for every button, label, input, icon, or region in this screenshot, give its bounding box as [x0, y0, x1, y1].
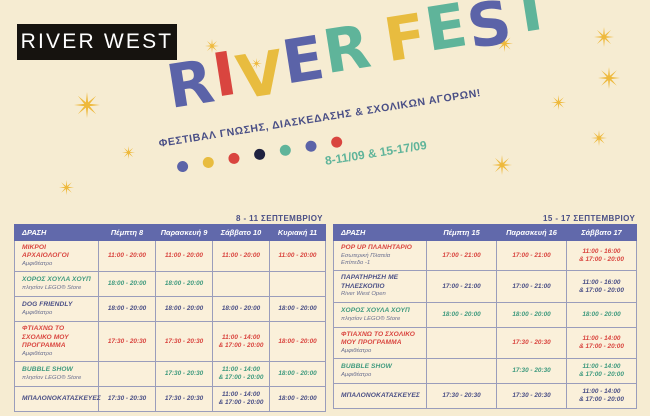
activity-title: POP UP ΠΛΑΝΗΤΑΡΙΟ [341, 244, 422, 252]
time-cell: 11:00 - 20:00 [156, 241, 213, 272]
column-header-activity: ΔΡΑΣΗ [15, 225, 99, 241]
time-cell: 11:00 - 14:00 & 17:00 - 20:00 [213, 322, 270, 362]
column-header-activity: ΔΡΑΣΗ [334, 225, 427, 241]
time-cell: 11:00 - 20:00 [213, 241, 270, 272]
activity-cell: BUBBLE SHOWπλησίον LEGO® Store [15, 361, 99, 386]
wordmark-letter: R [163, 54, 217, 117]
river-west-logo-text: RIVER WEST [21, 30, 174, 54]
wordmark-letter: S [464, 0, 515, 57]
wordmark-letter [375, 73, 389, 84]
wordmark-letter: F [381, 8, 429, 71]
time-cell [427, 327, 497, 358]
column-header-day: Παρασκευή 16 [497, 225, 567, 241]
time-cell: 11:00 - 14:00 & 17:00 - 20:00 [213, 386, 270, 411]
wordmark-letter: V [233, 45, 287, 108]
time-cell: 18:00 - 20:00 [270, 361, 326, 386]
table-row: ΧΟΡΟΣ ΧΟΥΛΑ ΧΟΥΠπλησίον LEGO® Store18:00… [334, 302, 637, 327]
activity-title: ΧΟΡΟΣ ΧΟΥΛΑ ΧΟΥΠ [341, 307, 422, 315]
time-cell: 17:30 - 20:30 [156, 361, 213, 386]
activity-cell: ΜΠΑΛΟΝΟΚΑΤΑΣΚΕΥΕΣ [334, 384, 427, 409]
wordmark-dot [253, 148, 266, 161]
activity-cell: POP UP ΠΛΑΝΗΤΑΡΙΟΕσωτερική Πλατεία Επίπε… [334, 241, 427, 271]
column-header-day: Πέμπτη 8 [99, 225, 156, 241]
star-icon [74, 92, 100, 122]
activity-cell: ΦΤΙΑΧΝΩ ΤΟ ΣΧΟΛΙΚΟ ΜΟΥ ΠΡΟΓΡΑΜΜΑΑμφιθέατ… [334, 327, 427, 358]
time-cell: 17:00 - 21:00 [427, 241, 497, 271]
activity-title: ΦΤΙΑΧΝΩ ΤΟ ΣΧΟΛΙΚΟ ΜΟΥ ΠΡΟΓΡΑΜΜΑ [22, 325, 94, 350]
time-cell: 18:00 - 20:00 [270, 386, 326, 411]
wordmark-dot [305, 140, 318, 153]
activity-venue: Αμφιθέατρο [22, 351, 94, 358]
time-cell: 18:00 - 20:00 [497, 302, 567, 327]
activity-venue: Εσωτερική Πλατεία Επίπεδο -1 [341, 253, 422, 268]
table-row: ΦΤΙΑΧΝΩ ΤΟ ΣΧΟΛΙΚΟ ΜΟΥ ΠΡΟΓΡΑΜΜΑΑμφιθέατ… [15, 322, 326, 362]
column-header-day: Σάββατο 17 [567, 225, 637, 241]
time-cell: 18:00 - 20:00 [99, 272, 156, 297]
time-cell: 11:00 - 14:00 & 17:00 - 20:00 [567, 327, 637, 358]
time-cell: 17:30 - 20:30 [156, 386, 213, 411]
activity-title: BUBBLE SHOW [341, 363, 422, 371]
wordmark-letter: E [421, 0, 469, 60]
table-header-row: ΔΡΑΣΗΠέμπτη 8Παρασκευή 9Σάββατο 10Κυριακ… [15, 225, 326, 241]
time-cell: 18:00 - 20:00 [567, 302, 637, 327]
star-icon [551, 95, 566, 114]
schedule-table-sep-15-17: ΔΡΑΣΗΠέμπτη 15Παρασκευή 16Σάββατο 17POP … [333, 224, 637, 409]
star-icon [59, 180, 74, 199]
time-cell: 11:00 - 16:00 & 17:00 - 20:00 [567, 241, 637, 271]
wordmark-letter: E [279, 30, 327, 93]
river-west-logo: RIVER WEST [17, 24, 177, 60]
activity-cell: DOG FRIENDLYΑμφιθέατρο [15, 297, 99, 322]
section-label-sep-15-17: 15 - 17 ΣΕΠΤΕΜΒΡΙΟΥ [543, 214, 635, 223]
activity-title: DOG FRIENDLY [22, 301, 94, 309]
river-fest-wordmark: RIVER FEST ΦΕΣΤΙΒΑΛ ΓΝΩΣΗΣ, ΔΙΑΣΚΕΔΑΣΗΣ … [172, 60, 502, 180]
column-header-day: Πέμπτη 15 [427, 225, 497, 241]
time-cell: 11:00 - 20:00 [270, 241, 326, 272]
table-row: POP UP ΠΛΑΝΗΤΑΡΙΟΕσωτερική Πλατεία Επίπε… [334, 241, 637, 271]
activity-cell: ΠΑΡΑΤΗΡΗΣΗ ΜΕ ΤΗΛΕΣΚΟΠΙΟRiver West Open [334, 271, 427, 302]
activity-title: ΦΤΙΑΧΝΩ ΤΟ ΣΧΟΛΙΚΟ ΜΟΥ ΠΡΟΓΡΑΜΜΑ [341, 331, 422, 347]
time-cell: 17:30 - 20:30 [427, 384, 497, 409]
section-label-sep-8-11: 8 - 11 ΣΕΠΤΕΜΒΡΙΟΥ [236, 214, 323, 223]
wordmark-dot [176, 160, 189, 173]
time-cell: 17:30 - 20:30 [99, 322, 156, 362]
time-cell: 17:30 - 20:30 [99, 386, 156, 411]
time-cell: 17:00 - 21:00 [497, 271, 567, 302]
activity-title: ΜΠΑΛΟΝΟΚΑΤΑΣΚΕΥΕΣ [341, 392, 422, 400]
table-row: DOG FRIENDLYΑμφιθέατρο18:00 - 20:0018:00… [15, 297, 326, 322]
activity-venue: πλησίον LEGO® Store [22, 285, 94, 292]
star-icon [598, 67, 620, 93]
time-cell: 18:00 - 20:00 [99, 297, 156, 322]
star-icon [594, 27, 614, 51]
time-cell: 17:00 - 21:00 [497, 241, 567, 271]
activity-cell: ΧΟΡΟΣ ΧΟΥΛΑ ΧΟΥΠπλησίον LEGO® Store [15, 272, 99, 297]
activity-venue: Αμφιθέατρο [341, 372, 422, 379]
time-cell: 11:00 - 20:00 [99, 241, 156, 272]
activity-cell: ΜΠΑΛΟΝΟΚΑΤΑΣΚΕΥΕΣ [15, 386, 99, 411]
activity-title: ΠΑΡΑΤΗΡΗΣΗ ΜΕ ΤΗΛΕΣΚΟΠΙΟ [341, 274, 422, 290]
activity-venue: Αμφιθέατρο [341, 348, 422, 355]
time-cell: 17:00 - 21:00 [427, 271, 497, 302]
time-cell [270, 272, 326, 297]
time-cell [427, 359, 497, 384]
activity-title: BUBBLE SHOW [22, 366, 94, 374]
wordmark-letter: R [320, 19, 374, 82]
time-cell: 11:00 - 14:00 & 17:00 - 20:00 [567, 359, 637, 384]
table-row: BUBBLE SHOWπλησίον LEGO® Store17:30 - 20… [15, 361, 326, 386]
wordmark-dot [330, 136, 343, 149]
time-cell: 18:00 - 20:00 [156, 272, 213, 297]
time-cell: 18:00 - 20:00 [270, 297, 326, 322]
table-row: BUBBLE SHOWΑμφιθέατρο17:30 - 20:3011:00 … [334, 359, 637, 384]
table-row: ΦΤΙΑΧΝΩ ΤΟ ΣΧΟΛΙΚΟ ΜΟΥ ΠΡΟΓΡΑΜΜΑΑμφιθέατ… [334, 327, 637, 358]
time-cell: 18:00 - 20:00 [427, 302, 497, 327]
river-fest-letters: RIVER FEST [163, 0, 557, 117]
activity-title: ΜΠΑΛΟΝΟΚΑΤΑΣΚΕΥΕΣ [22, 395, 94, 403]
time-cell: 18:00 - 20:00 [213, 297, 270, 322]
wordmark-dot [279, 144, 292, 157]
activity-venue: πλησίον LEGO® Store [341, 316, 422, 323]
table-row: ΧΟΡΟΣ ΧΟΥΛΑ ΧΟΥΠπλησίον LEGO® Store18:00… [15, 272, 326, 297]
star-icon [122, 146, 135, 163]
activity-venue: πλησίον LEGO® Store [22, 375, 94, 382]
time-cell: 18:00 - 20:00 [270, 322, 326, 362]
activity-cell: BUBBLE SHOWΑμφιθέατρο [334, 359, 427, 384]
activity-cell: ΦΤΙΑΧΝΩ ΤΟ ΣΧΟΛΙΚΟ ΜΟΥ ΠΡΟΓΡΑΜΜΑΑμφιθέατ… [15, 322, 99, 362]
activity-cell: ΧΟΡΟΣ ΧΟΥΛΑ ΧΟΥΠπλησίον LEGO® Store [334, 302, 427, 327]
activity-venue: Αμφιθέατρο [22, 310, 94, 317]
schedule-table-sep-8-11: ΔΡΑΣΗΠέμπτη 8Παρασκευή 9Σάββατο 10Κυριακ… [14, 224, 326, 412]
time-cell: 17:30 - 20:30 [497, 327, 567, 358]
poster-canvas: RIVER WEST RIVER FEST ΦΕΣΤΙΒΑΛ ΓΝΩΣΗΣ, Δ… [0, 0, 650, 416]
column-header-day: Παρασκευή 9 [156, 225, 213, 241]
wordmark-letter: T [506, 0, 554, 42]
star-icon [591, 130, 607, 150]
activity-venue: River West Open [341, 291, 422, 298]
table-row: ΠΑΡΑΤΗΡΗΣΗ ΜΕ ΤΗΛΕΣΚΟΠΙΟRiver West Open1… [334, 271, 637, 302]
time-cell: 17:30 - 20:30 [497, 384, 567, 409]
time-cell: 18:00 - 20:00 [156, 297, 213, 322]
activity-cell: ΜΙΚΡΟΙ ΑΡΧΑΙΟΛΟΓΟΙΑμφιθέατρο [15, 241, 99, 272]
time-cell: 11:00 - 14:00 & 17:00 - 20:00 [567, 384, 637, 409]
activity-title: ΧΟΡΟΣ ΧΟΥΛΑ ΧΟΥΠ [22, 276, 94, 284]
time-cell [99, 361, 156, 386]
table-row: ΜΙΚΡΟΙ ΑΡΧΑΙΟΛΟΓΟΙΑμφιθέατρο11:00 - 20:0… [15, 241, 326, 272]
table-row: ΜΠΑΛΟΝΟΚΑΤΑΣΚΕΥΕΣ17:30 - 20:3017:30 - 20… [334, 384, 637, 409]
time-cell [213, 272, 270, 297]
activity-title: ΜΙΚΡΟΙ ΑΡΧΑΙΟΛΟΓΟΙ [22, 244, 94, 260]
table-row: ΜΠΑΛΟΝΟΚΑΤΑΣΚΕΥΕΣ17:30 - 20:3017:30 - 20… [15, 386, 326, 411]
table-header-row: ΔΡΑΣΗΠέμπτη 15Παρασκευή 16Σάββατο 17 [334, 225, 637, 241]
time-cell: 17:30 - 20:30 [497, 359, 567, 384]
time-cell: 17:30 - 20:30 [156, 322, 213, 362]
time-cell: 11:00 - 14:00 & 17:00 - 20:00 [213, 361, 270, 386]
activity-venue: Αμφιθέατρο [22, 261, 94, 268]
wordmark-dot [202, 156, 215, 169]
time-cell: 11:00 - 16:00 & 17:00 - 20:00 [567, 271, 637, 302]
column-header-day: Σάββατο 10 [213, 225, 270, 241]
wordmark-dot [228, 152, 241, 165]
column-header-day: Κυριακή 11 [270, 225, 326, 241]
